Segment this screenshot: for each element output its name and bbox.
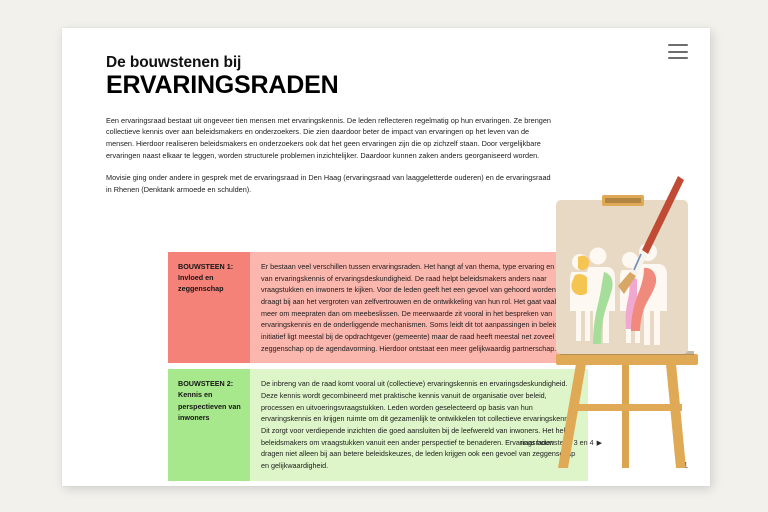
easel-illustration-svg — [542, 168, 712, 468]
menu-line-2 — [668, 51, 688, 53]
page-title: ERVARINGSRADEN — [106, 72, 556, 99]
easel-rear-leg — [622, 364, 629, 468]
building-block-2: BOUWSTEEN 2: Kennis en perspectieven van… — [168, 369, 588, 480]
easel-right-leg — [666, 364, 686, 468]
menu-line-3 — [668, 57, 688, 59]
page-kicker: De bouwstenen bij — [106, 54, 556, 71]
easel-left-leg — [558, 364, 586, 468]
building-block-2-label-title: BOUWSTEEN 2: — [178, 378, 241, 389]
canvas-clip-detail — [605, 198, 641, 203]
hamburger-menu-icon[interactable] — [668, 44, 688, 59]
building-block-2-body: De inbreng van de raad komt vooral uit (… — [250, 369, 588, 480]
building-block-2-label: BOUWSTEEN 2: Kennis en perspectieven van… — [168, 369, 250, 480]
easel-illustration — [542, 168, 712, 468]
building-block-1-body: Er bestaan veel verschillen tussen ervar… — [250, 252, 588, 363]
intro-paragraph-2: Movisie ging onder andere in gesprek met… — [106, 172, 556, 196]
document-page: De bouwstenen bij ERVARINGSRADEN Een erv… — [62, 28, 710, 486]
easel-crossbar — [570, 404, 682, 411]
building-block-1: BOUWSTEEN 1: Invloed en zeggenschap Er b… — [168, 252, 588, 363]
easel-tray — [556, 354, 698, 365]
building-block-2-label-text: Kennis en perspectieven van inwoners — [178, 390, 241, 421]
building-block-1-label-text: Invloed en zeggenschap — [178, 273, 224, 293]
building-block-1-label: BOUWSTEEN 1: Invloed en zeggenschap — [168, 252, 250, 363]
building-block-1-label-title: BOUWSTEEN 1: — [178, 261, 241, 272]
intro-paragraph-1: Een ervaringsraad bestaat uit ongeveer t… — [106, 115, 556, 162]
menu-line-1 — [668, 44, 688, 46]
page-content: De bouwstenen bij ERVARINGSRADEN Een erv… — [106, 54, 556, 195]
pdf-page-viewer: De bouwstenen bij ERVARINGSRADEN Een erv… — [0, 0, 768, 512]
